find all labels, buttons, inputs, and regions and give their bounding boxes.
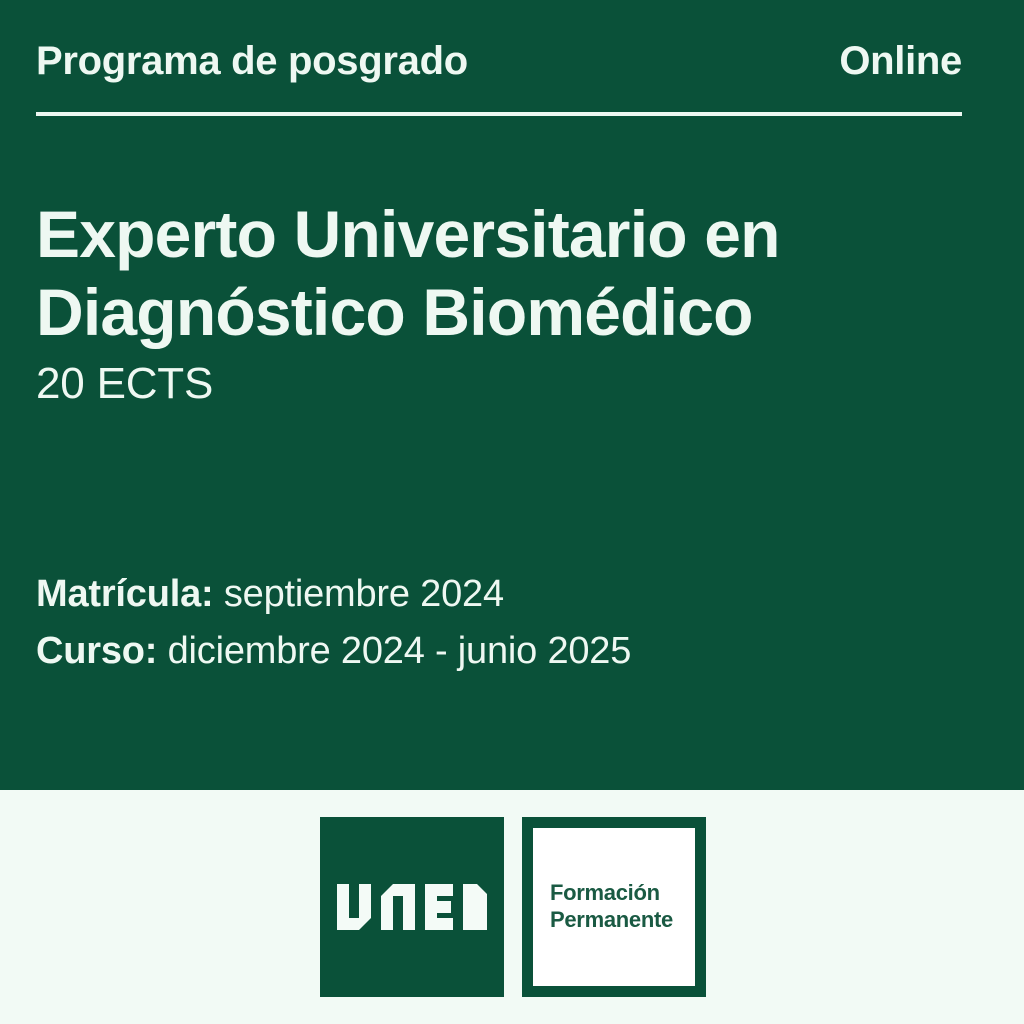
enrollment-date-value: septiembre 2024	[213, 573, 503, 615]
course-period-value: diciembre 2024 - junio 2025	[157, 630, 631, 672]
course-dates-block: Matrícula: septiembre 2024 Curso: diciem…	[36, 566, 966, 680]
uned-wordmark-icon	[320, 817, 504, 997]
formacion-permanente-line-1: Formación	[550, 880, 660, 907]
course-period-row: Curso: diciembre 2024 - junio 2025	[36, 623, 966, 680]
course-title-line-1: Experto Universitario en	[36, 196, 966, 274]
green-panel: Programa de posgrado Online Experto Univ…	[0, 0, 1024, 790]
header: Programa de posgrado Online	[36, 40, 962, 82]
course-promo-card: Programa de posgrado Online Experto Univ…	[0, 0, 1024, 1024]
course-title-line-2: Diagnóstico Biomédico	[36, 274, 966, 352]
formacion-permanente-line-2: Permanente	[550, 907, 673, 934]
formacion-permanente-mark: Formación Permanente	[522, 817, 706, 997]
course-period-label: Curso:	[36, 630, 157, 672]
uned-logo-lockup: Formación Permanente	[320, 817, 706, 997]
logo-band: Formación Permanente	[0, 790, 1024, 1024]
course-credits: 20 ECTS	[36, 358, 966, 411]
header-divider	[36, 112, 962, 116]
program-type-label: Programa de posgrado	[36, 40, 468, 82]
enrollment-date-row: Matrícula: septiembre 2024	[36, 566, 966, 623]
modality-label: Online	[839, 40, 962, 82]
enrollment-date-label: Matrícula:	[36, 573, 213, 615]
course-title-block: Experto Universitario en Diagnóstico Bio…	[36, 196, 966, 411]
